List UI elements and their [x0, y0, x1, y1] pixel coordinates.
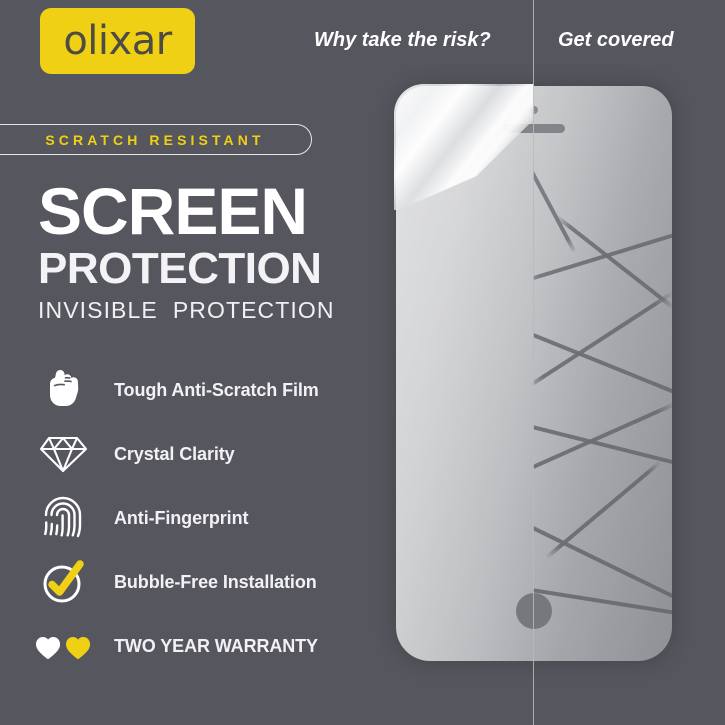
split-divider-line — [533, 0, 534, 725]
scratch-line — [513, 215, 672, 286]
feature-row: Bubble-Free Installation — [34, 550, 354, 614]
fist-icon — [34, 362, 92, 418]
smartphone-illustration — [396, 86, 672, 661]
feature-label: Tough Anti-Scratch Film — [114, 380, 319, 401]
feature-row: Anti-Fingerprint — [34, 486, 354, 550]
peeling-screen-protector[interactable] — [394, 84, 534, 210]
home-button — [516, 593, 552, 629]
scratch-resistant-badge: SCRATCH RESISTANT — [0, 124, 312, 155]
feature-label: Anti-Fingerprint — [114, 508, 248, 529]
diamond-icon — [34, 426, 92, 482]
headline-tertiary: INVISIBLE PROTECTION — [38, 299, 335, 322]
feature-label: Bubble-Free Installation — [114, 572, 317, 593]
feature-label: TWO YEAR WARRANTY — [114, 636, 318, 657]
scratch-resistant-label: SCRATCH RESISTANT — [31, 132, 264, 148]
feature-row: Tough Anti-Scratch Film — [34, 358, 354, 422]
feature-list: Tough Anti-Scratch Film Crystal Clarity — [34, 358, 354, 678]
protector-film-highlight — [394, 84, 534, 210]
scratch-line — [555, 214, 672, 310]
product-advertisement: olixar Why take the risk? Get covered SC… — [0, 0, 725, 725]
headline-primary: SCREEN — [38, 178, 307, 244]
logo-text: olixar — [63, 21, 171, 61]
feature-label: Crystal Clarity — [114, 444, 235, 465]
olixar-logo[interactable]: olixar — [40, 8, 195, 74]
feature-row: Crystal Clarity — [34, 422, 354, 486]
check-circle-icon — [34, 554, 92, 610]
two-hearts-icon — [34, 618, 92, 674]
headline-secondary: PROTECTION — [38, 247, 321, 291]
tagline-left: Why take the risk? — [314, 29, 491, 52]
tagline-right: Get covered — [558, 29, 674, 52]
scratch-line — [545, 460, 662, 559]
fingerprint-icon — [34, 490, 92, 546]
feature-row: TWO YEAR WARRANTY — [34, 614, 354, 678]
